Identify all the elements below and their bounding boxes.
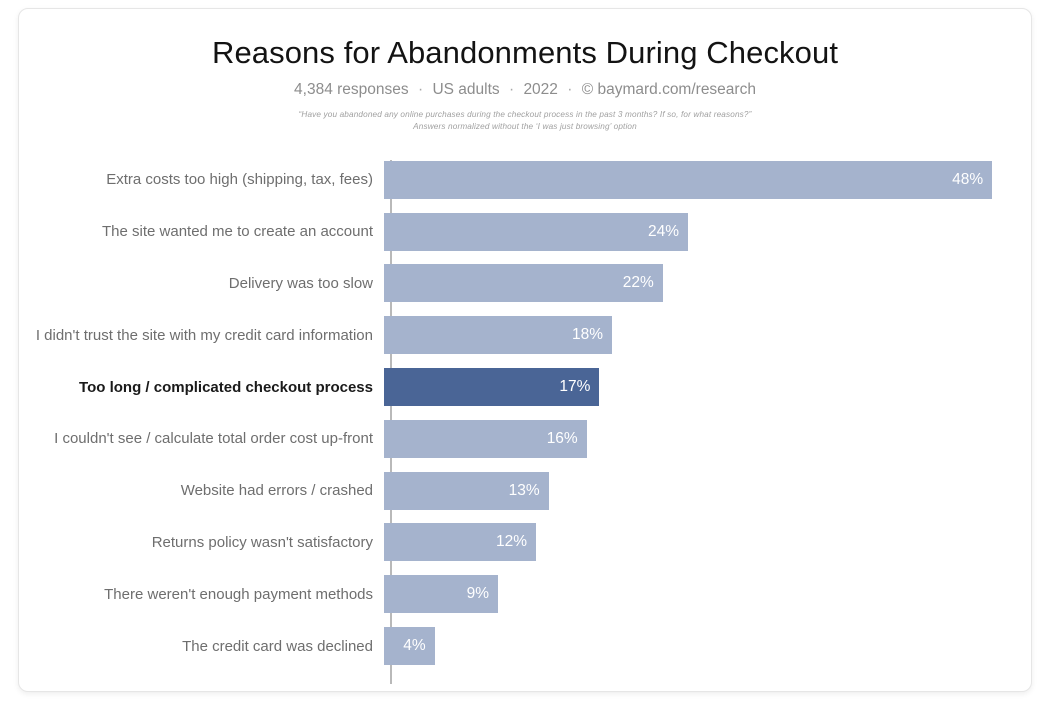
- bar-value-label: 12%: [496, 533, 527, 551]
- bar-row: The credit card was declined4%: [19, 620, 1031, 672]
- bar-category-label: Website had errors / crashed: [19, 482, 382, 499]
- chart-footnote: “Have you abandoned any online purchases…: [19, 109, 1031, 132]
- bar-row: Extra costs too high (shipping, tax, fee…: [19, 154, 1031, 206]
- bar-value-label: 48%: [952, 171, 983, 189]
- subtitle-separator: ·: [562, 81, 577, 98]
- bar-value-label: 18%: [572, 326, 603, 344]
- bar-category-label: There weren't enough payment methods: [19, 586, 382, 603]
- bar-track: 22%: [382, 258, 1031, 310]
- bar-category-label: The credit card was declined: [19, 638, 382, 655]
- bar: 4%: [384, 627, 435, 665]
- chart-subtitle: 4,384 responses · US adults · 2022 · © b…: [19, 80, 1031, 100]
- subtitle-separator: ·: [413, 81, 428, 98]
- footnote-question: “Have you abandoned any online purchases…: [19, 109, 1031, 121]
- bar: 16%: [384, 420, 587, 458]
- bar: 13%: [384, 472, 549, 510]
- bar: 18%: [384, 316, 612, 354]
- bar-track: 17%: [382, 361, 1031, 413]
- bar-category-label: Too long / complicated checkout process: [19, 379, 382, 396]
- bar-track: 9%: [382, 568, 1031, 620]
- bar-value-label: 16%: [547, 430, 578, 448]
- bar: 9%: [384, 575, 498, 613]
- bar-category-label: I didn't trust the site with my credit c…: [19, 327, 382, 344]
- bar-category-label: Returns policy wasn't satisfactory: [19, 534, 382, 551]
- footnote-normalization: Answers normalized without the ‘I was ju…: [19, 121, 1031, 133]
- bar-row: Too long / complicated checkout process1…: [19, 361, 1031, 413]
- bar-track: 18%: [382, 309, 1031, 361]
- bar-track: 24%: [382, 206, 1031, 258]
- subtitle-year: 2022: [523, 81, 557, 98]
- bar: 17%: [384, 368, 599, 406]
- chart-card: Reasons for Abandonments During Checkout…: [18, 8, 1032, 692]
- bar-value-label: 17%: [559, 378, 590, 396]
- bar: 22%: [384, 264, 663, 302]
- bar-category-label: Delivery was too slow: [19, 275, 382, 292]
- bar-row: Delivery was too slow22%: [19, 258, 1031, 310]
- bar-category-label: Extra costs too high (shipping, tax, fee…: [19, 171, 382, 188]
- bar-track: 16%: [382, 413, 1031, 465]
- bar-row: Returns policy wasn't satisfactory12%: [19, 517, 1031, 569]
- subtitle-responses: 4,384 responses: [294, 81, 409, 98]
- bar-value-label: 13%: [509, 482, 540, 500]
- bar-row: The site wanted me to create an account2…: [19, 206, 1031, 258]
- subtitle-audience: US adults: [432, 81, 499, 98]
- bar-row: Website had errors / crashed13%: [19, 465, 1031, 517]
- bar-value-label: 22%: [623, 274, 654, 292]
- bar-category-label: I couldn't see / calculate total order c…: [19, 430, 382, 447]
- bar-row: I didn't trust the site with my credit c…: [19, 309, 1031, 361]
- bar-track: 4%: [382, 620, 1031, 672]
- subtitle-source[interactable]: baymard.com/research: [597, 81, 756, 98]
- bar-rows: Extra costs too high (shipping, tax, fee…: [19, 154, 1031, 672]
- bar-value-label: 24%: [648, 223, 679, 241]
- bar-row: I couldn't see / calculate total order c…: [19, 413, 1031, 465]
- bar: 12%: [384, 523, 536, 561]
- bar: 24%: [384, 213, 688, 251]
- bar-category-label: The site wanted me to create an account: [19, 223, 382, 240]
- bar-value-label: 4%: [403, 637, 425, 655]
- subtitle-separator: ·: [504, 81, 519, 98]
- bar-row: There weren't enough payment methods9%: [19, 568, 1031, 620]
- bar-value-label: 9%: [467, 585, 489, 603]
- bar: 48%: [384, 161, 992, 199]
- bar-track: 12%: [382, 517, 1031, 569]
- bar-track: 48%: [382, 154, 1031, 206]
- page-title: Reasons for Abandonments During Checkout: [19, 33, 1031, 73]
- copyright-icon: ©: [582, 81, 593, 98]
- bar-track: 13%: [382, 465, 1031, 517]
- chart-header: Reasons for Abandonments During Checkout…: [19, 9, 1031, 132]
- plot-area: Extra costs too high (shipping, tax, fee…: [19, 154, 1031, 692]
